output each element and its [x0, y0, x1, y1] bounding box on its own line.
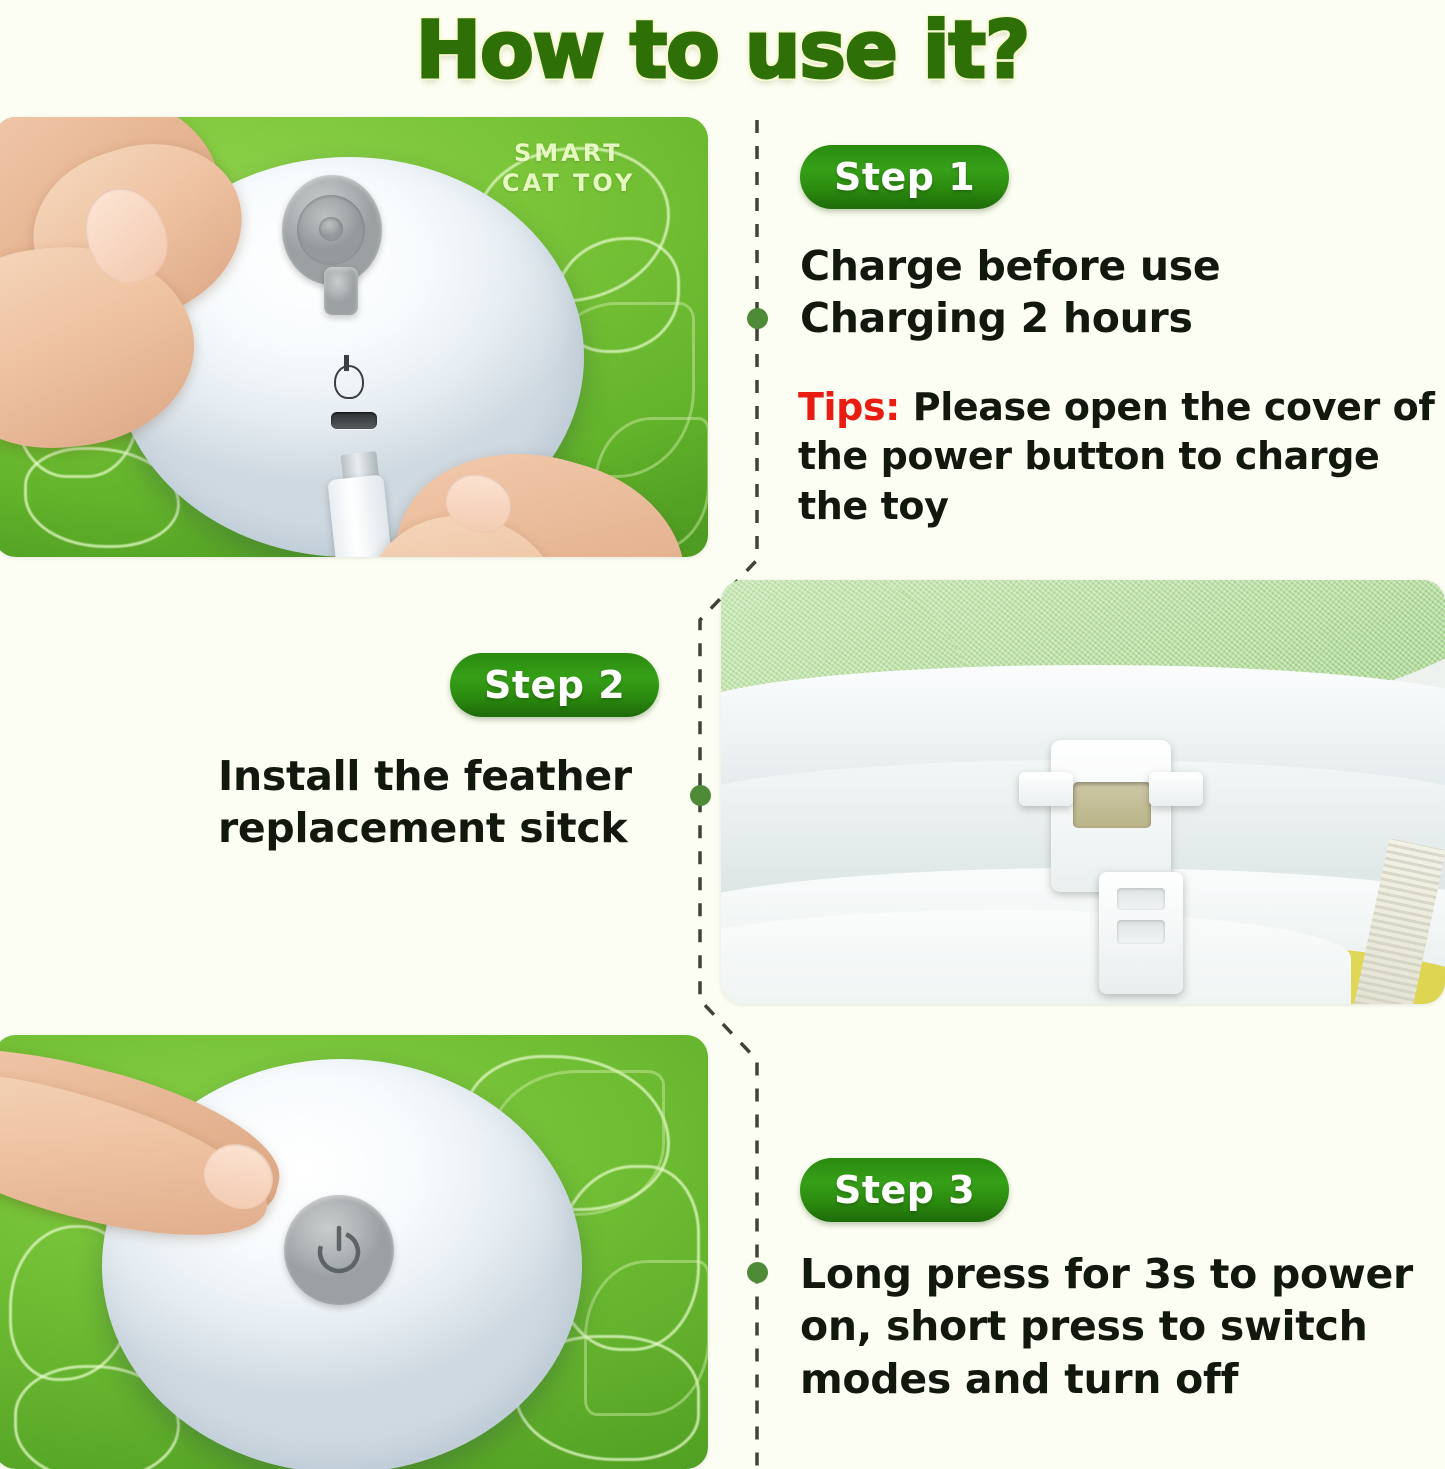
- step-3-bullet: [747, 1262, 768, 1283]
- step-1-tips: Tips: Please open the cover of the power…: [798, 383, 1445, 531]
- step-3-badge-label: Step 3: [834, 1168, 975, 1212]
- step-2-line-2: replacement sitck: [218, 802, 663, 854]
- charging-port-photo: SMART CAT TOY: [0, 117, 708, 557]
- step-1-bullet: [747, 308, 768, 329]
- step-2-badge-label: Step 2: [484, 663, 625, 707]
- usb-c-port: [331, 412, 377, 429]
- bulb-icon: [334, 365, 364, 399]
- step-3-text: Long press for 3s to power on, short pre…: [800, 1248, 1445, 1405]
- step-3-badge: Step 3: [800, 1158, 1009, 1222]
- step-3-line-2: on, short press to switch: [800, 1300, 1445, 1352]
- step-1-text: Charge before use Charging 2 hours: [800, 240, 1445, 345]
- step-2-text: Install the feather replacement sitck: [218, 750, 663, 855]
- mat-text-line1: SMART: [514, 139, 623, 167]
- step-2-badge: Step 2: [450, 653, 659, 717]
- step-2-line-1: Install the feather: [218, 750, 663, 802]
- step-3-line-1: Long press for 3s to power: [800, 1248, 1445, 1300]
- step-1-line-2: Charging 2 hours: [800, 292, 1445, 344]
- bracket-slot: [1073, 782, 1151, 828]
- step-1-line-1: Charge before use: [800, 240, 1445, 292]
- step-1-badge: Step 1: [800, 145, 1009, 209]
- step-3-line-3: modes and turn off: [800, 1353, 1445, 1405]
- feather-stick-bracket-photo: [721, 580, 1445, 1004]
- step-2-bullet: [690, 785, 711, 806]
- infographic-page: How to use it? SMART CAT TOY: [0, 0, 1445, 1469]
- step-1-badge-label: Step 1: [834, 155, 975, 199]
- tips-label: Tips:: [798, 385, 913, 429]
- mat-text-line2: CAT TOY: [502, 169, 635, 197]
- power-button-photo: [0, 1035, 708, 1469]
- power-symbol-icon: [310, 1221, 368, 1279]
